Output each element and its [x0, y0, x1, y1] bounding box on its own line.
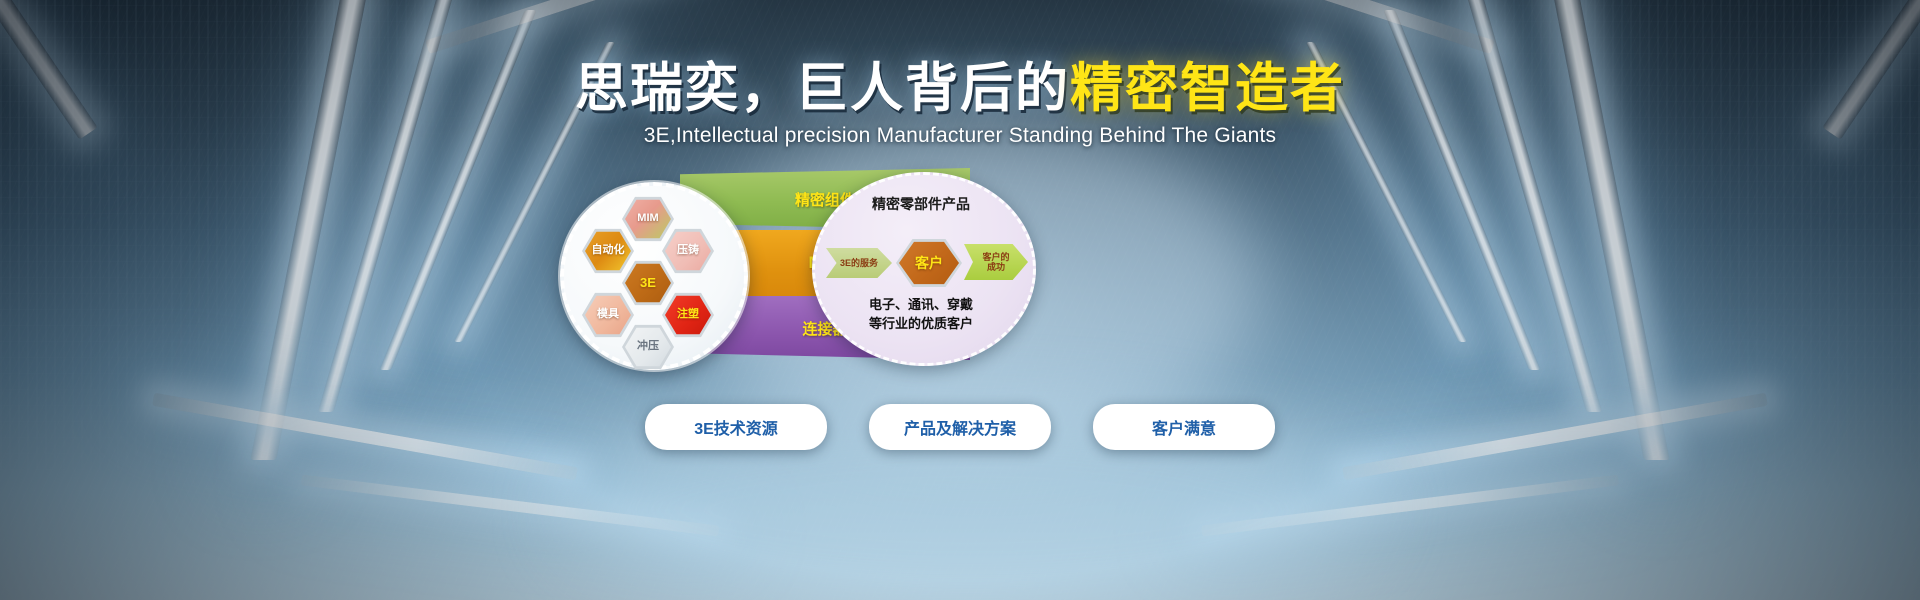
hexagon-label: 冲压 — [637, 341, 659, 353]
footer-line-1: 电子、通讯、穿戴 — [812, 296, 1030, 315]
button-tech-resources[interactable]: 3E技术资源 — [645, 404, 827, 450]
hexagon-automation: 自动化 — [582, 228, 634, 274]
process-diagram: 精密组件 MIM 连接器 精密零部件产品 3E的服务 客户 客户的成功 电子、通… — [560, 168, 1030, 360]
headline-main-text: 思瑞奕，巨人背后的 — [575, 59, 1070, 118]
hexagon-injection: 注塑 — [662, 292, 714, 338]
hexagon-label: 注塑 — [677, 309, 699, 321]
hexagon-label: 压铸 — [677, 245, 699, 257]
hexagon-label: 模具 — [597, 309, 619, 321]
hexagon-diecasting: 压铸 — [662, 228, 714, 274]
banner-stage: 思瑞奕，巨人背后的精密智造者 3E,Intellectual precision… — [0, 0, 1920, 600]
button-products-solutions[interactable]: 产品及解决方案 — [869, 404, 1051, 450]
hexagon-label: 自动化 — [592, 245, 625, 257]
right-circle-title: 精密零部件产品 — [812, 194, 1030, 214]
right-circle-footer: 电子、通讯、穿戴 等行业的优质客户 — [812, 296, 1030, 334]
cta-button-row: 3E技术资源 产品及解决方案 客户满意 — [0, 404, 1920, 450]
hexagon-label: 3E — [640, 276, 656, 290]
hexagon-label: MIM — [637, 213, 658, 225]
flow-label: 客户 — [915, 253, 943, 273]
footer-line-2: 等行业的优质客户 — [812, 315, 1030, 334]
headline-block: 思瑞奕，巨人背后的精密智造者 3E,Intellectual precision… — [0, 62, 1920, 148]
page-subtitle: 3E,Intellectual precision Manufacturer S… — [0, 124, 1920, 148]
headline-highlight-text: 精密智造者 — [1070, 59, 1345, 118]
hexagon-mim: MIM — [622, 196, 674, 242]
button-customer-satisfaction[interactable]: 客户满意 — [1093, 404, 1275, 450]
hexagon-mold: 模具 — [582, 292, 634, 338]
hexagon-core-3e: 3E — [622, 260, 674, 306]
capability-hexagons: MIM 自动化 压铸 3E 模具 注塑 冲压 — [560, 182, 740, 362]
flow-label: 3E的服务 — [840, 258, 878, 268]
flow-label: 客户的成功 — [982, 252, 1009, 273]
page-title: 思瑞奕，巨人背后的精密智造者 — [0, 62, 1920, 115]
